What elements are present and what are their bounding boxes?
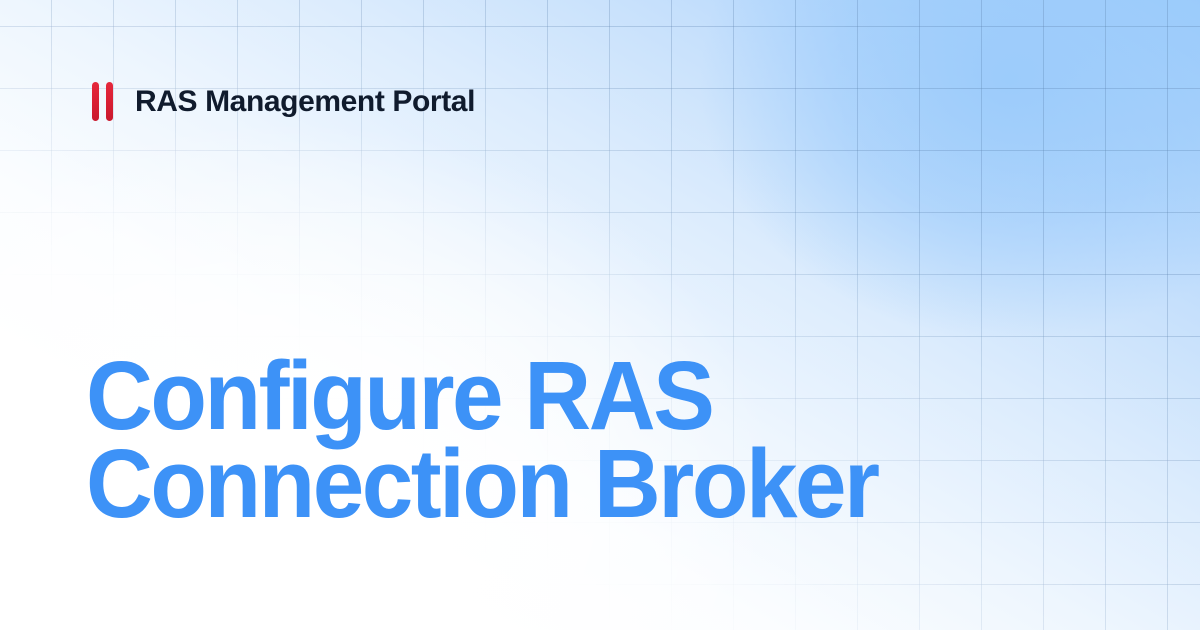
page-title: Configure RAS Connection Broker — [86, 352, 1096, 528]
banner-content: RAS Management Portal Configure RAS Conn… — [0, 0, 1200, 630]
page-title-line-2: Connection Broker — [86, 440, 1051, 528]
logo-bar-right — [106, 82, 113, 121]
double-bar-logo-icon — [92, 82, 113, 121]
brand-title: RAS Management Portal — [135, 87, 475, 117]
page-title-line-1: Configure RAS — [86, 352, 1051, 440]
logo-bar-left — [92, 82, 99, 121]
brand-row: RAS Management Portal — [92, 82, 475, 121]
hero-banner: RAS Management Portal Configure RAS Conn… — [0, 0, 1200, 630]
